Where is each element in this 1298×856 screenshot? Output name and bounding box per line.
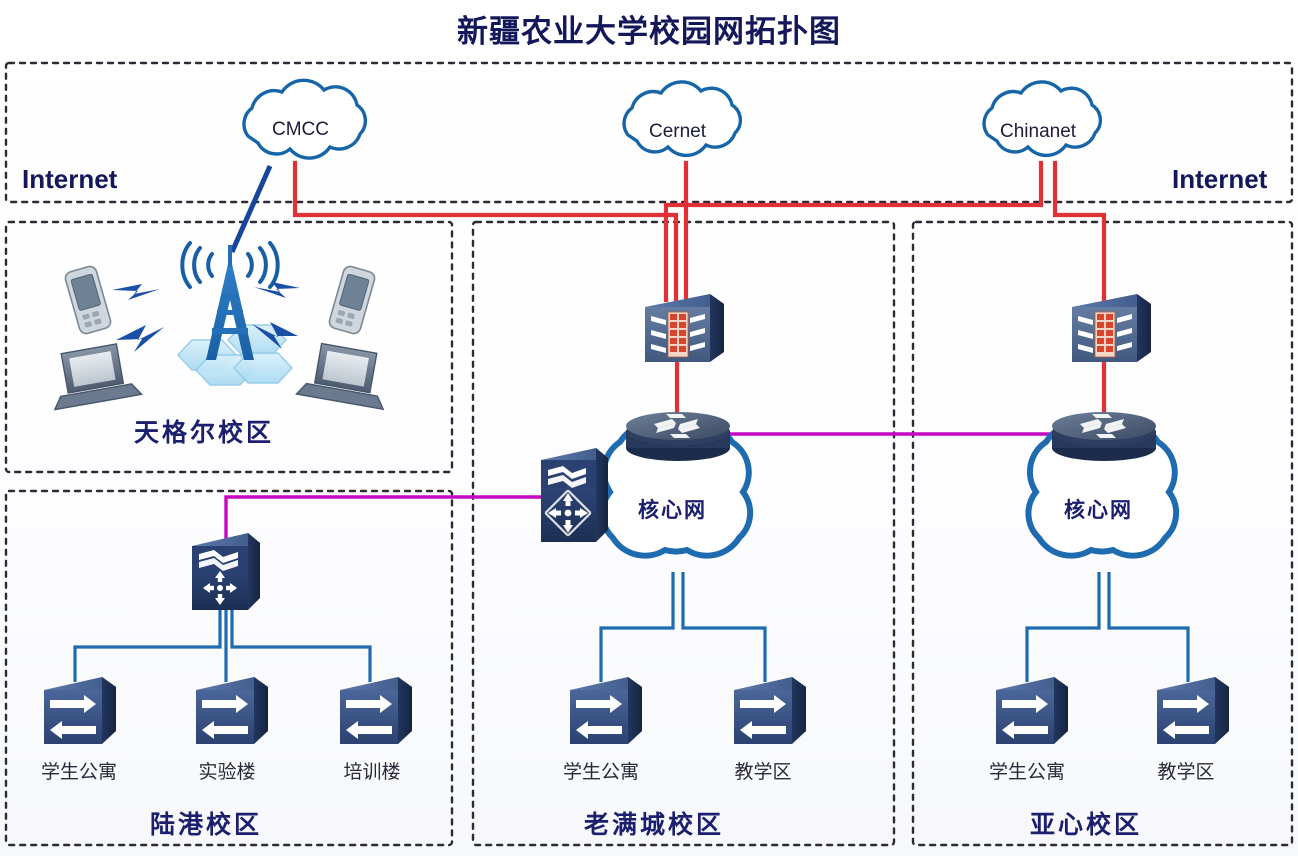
link-cmcc-to-tower [232, 166, 270, 252]
zone-title-yaxin: 亚心校区 [1030, 805, 1142, 841]
firewall-laomancheng[interactable] [645, 294, 724, 362]
zone-title-laomancheng: 老满城校区 [584, 805, 724, 841]
link-laomancheng-trunk-b [683, 572, 765, 682]
switch-laomancheng-teaching[interactable] [734, 677, 806, 744]
device-label-lugang-dorm: 学生公寓 [24, 757, 134, 784]
core-network-label-yaxin: 核心网 [1064, 494, 1133, 524]
device-label-lugang-lab: 实验楼 [180, 757, 274, 784]
multilayer-switch-lugang[interactable] [192, 533, 260, 610]
device-label-yaxin-teaching: 教学区 [1139, 757, 1233, 784]
firewall-yaxin[interactable] [1072, 294, 1151, 362]
cloud-label-chinanet: Chinanet [1000, 121, 1076, 143]
switch-lugang-dorm[interactable] [44, 677, 116, 744]
internet-label-right: Internet [1172, 164, 1267, 195]
switch-yaxin-dorm[interactable] [996, 677, 1068, 744]
link-chinanet-to-center-fw [666, 163, 1041, 300]
router-laomancheng[interactable] [626, 412, 730, 461]
cloud-chinanet[interactable] [984, 82, 1100, 155]
zone-title-tiangeer: 天格尔校区 [134, 413, 274, 449]
switch-lugang-lab[interactable] [196, 677, 268, 744]
link-laomancheng-trunk-a [601, 572, 673, 682]
switch-yaxin-teaching[interactable] [1157, 677, 1229, 744]
cloud-label-cernet: Cernet [649, 121, 706, 143]
link-yaxin-trunk-b [1109, 572, 1188, 682]
cloud-cernet[interactable] [624, 82, 740, 155]
device-label-laomancheng-dorm: 学生公寓 [546, 757, 656, 784]
switch-laomancheng-dorm[interactable] [570, 677, 642, 744]
link-lugang-trunk-c [232, 610, 370, 682]
link-lugang-trunk-a [75, 610, 220, 682]
topology-diagram: 新疆农业大学校园网拓扑图 [0, 0, 1298, 856]
link-yaxin-trunk-a [1027, 572, 1099, 682]
cloud-label-cmcc: CMCC [272, 119, 329, 141]
device-label-yaxin-dorm: 学生公寓 [972, 757, 1082, 784]
pda-right-icon [328, 265, 376, 335]
zone-title-lugang: 陆港校区 [150, 805, 262, 841]
multilayer-switch-core-left[interactable] [541, 448, 608, 542]
pda-left-icon [64, 265, 112, 335]
link-chinanet-to-right-fw [1055, 163, 1104, 300]
switch-lugang-training[interactable] [340, 677, 412, 744]
router-yaxin[interactable] [1052, 412, 1156, 461]
device-label-laomancheng-teaching: 教学区 [716, 757, 810, 784]
device-label-lugang-training: 培训楼 [325, 757, 419, 784]
core-network-label-laomancheng: 核心网 [638, 494, 707, 524]
internet-label-left: Internet [22, 164, 117, 195]
link-lugang-to-core-switch [226, 497, 565, 540]
laptop-right-icon [297, 341, 393, 409]
laptop-left-icon [45, 341, 141, 409]
